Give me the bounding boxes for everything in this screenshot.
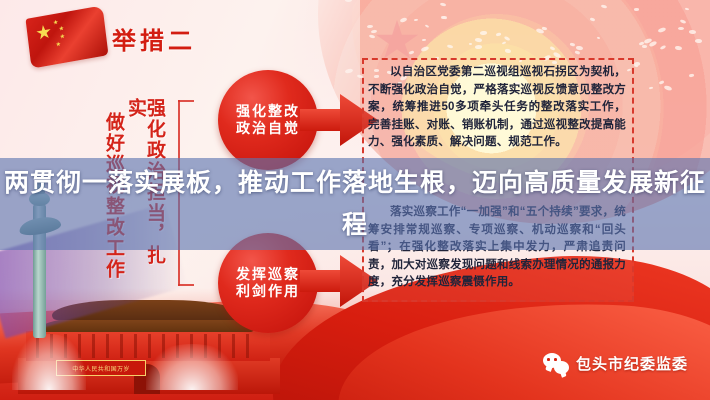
confetti-dot (414, 19, 418, 22)
confetti-dot (422, 39, 426, 41)
confetti-dot (634, 65, 638, 68)
confetti-dot (368, 34, 375, 39)
confetti-dot (504, 35, 511, 41)
confetti-dot (657, 26, 666, 33)
confetti-dot (475, 45, 482, 49)
wechat-eye-1 (547, 358, 550, 361)
badge-2-line-1: 发挥巡察 (236, 266, 300, 284)
badge-2-line-2: 利剑作用 (236, 283, 300, 301)
confetti-dot (425, 24, 429, 27)
badge-1-line-2: 政治自觉 (236, 120, 300, 138)
fountain-right (146, 344, 238, 390)
confetti-dot (689, 74, 694, 78)
confetti-dot (496, 32, 501, 36)
confetti-dot (685, 7, 689, 10)
confetti-dot (663, 85, 672, 91)
watermark-account: 包头市纪委监委 (576, 353, 688, 374)
confetti-dot (421, 46, 430, 53)
body-paragraph-1: 以自治区党委第二巡视组巡视石拐区为契机，不断强化政治自觉，严格落实巡视反馈意见整… (368, 64, 626, 152)
confetti-dot (570, 42, 575, 46)
poster-image: 中华人民共和国万岁 举措二 强化政治担当，扎实 做好巡视整改工作 强化整改 政治… (0, 0, 710, 400)
confetti-dot (590, 17, 596, 21)
section-kicker: 举措二 (112, 21, 196, 56)
confetti-dot (502, 41, 506, 44)
confetti-dot (680, 19, 686, 24)
confetti-dot (597, 37, 601, 40)
confetti-dot (504, 49, 511, 54)
caption-text: 两贯彻一落实展板，推动工作落地生根，迈向高质量发展新征程 (0, 162, 710, 246)
confetti-dot (658, 80, 664, 84)
confetti-dot (660, 44, 666, 49)
confetti-dot (399, 17, 407, 23)
confetti-dot (576, 45, 583, 50)
confetti-dot (678, 27, 684, 31)
confetti-dot (649, 87, 653, 90)
confetti-dot (408, 50, 414, 54)
confetti-dot (689, 30, 696, 34)
confetti-dot (601, 5, 607, 10)
badge-1-line-1: 强化整改 (236, 103, 300, 121)
confetti-dot (447, 45, 454, 50)
confetti-dot (634, 8, 639, 11)
wechat-bubble-small (554, 361, 569, 374)
vertical-rule-cap-bottom (178, 284, 194, 286)
vertical-rule-cap-top (178, 100, 194, 102)
confetti-dot (695, 39, 702, 43)
confetti-dot (475, 37, 482, 41)
confetti-dot (542, 26, 547, 30)
confetti-dot (642, 45, 647, 48)
confetti-dot (675, 45, 682, 50)
confetti-dot (371, 29, 378, 33)
confetti-dot (367, 25, 373, 28)
confetti-dot (479, 31, 486, 35)
confetti-dot (575, 50, 580, 54)
confetti-dot (549, 46, 555, 51)
confetti-dot (442, 16, 447, 19)
wechat-icon (543, 353, 569, 374)
wechat-eye-2 (554, 358, 557, 361)
confetti-dot (440, 2, 447, 7)
watermark: 包头市纪委监委 (543, 353, 688, 374)
fountain-left (12, 334, 86, 390)
confetti-dot (469, 43, 472, 45)
